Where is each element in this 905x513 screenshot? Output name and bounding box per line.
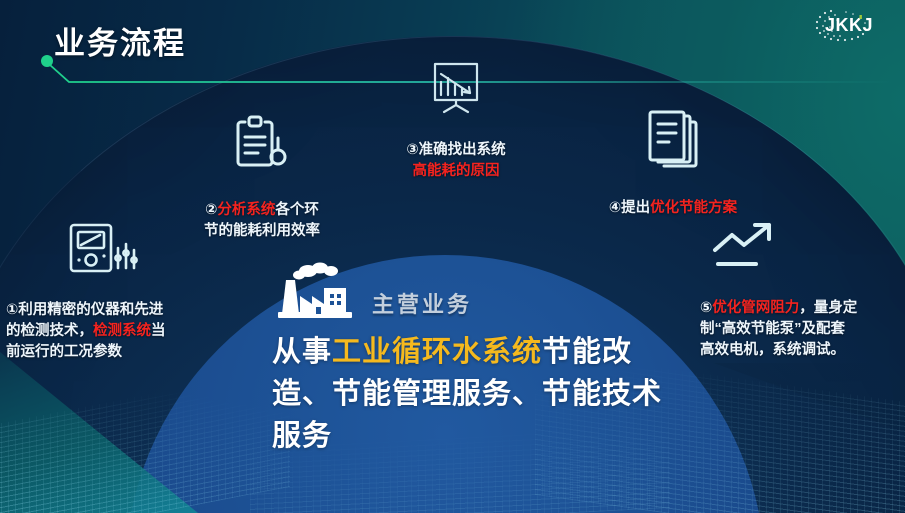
step-item-4: ④提出优化节能方案 — [588, 110, 758, 219]
clipboard-search-icon — [182, 112, 342, 179]
step-item-3: ③准确找出系统 高能耗的原因 — [372, 62, 540, 182]
main-business-label: 主营业务 — [372, 287, 472, 325]
step-2-text-before: ② — [205, 202, 217, 218]
main-business-text-before: 从事 — [272, 336, 332, 368]
slide-canvas: JKKJ 业务流程 — [0, 0, 905, 513]
step-item-2: ②分析系统各个环 节的能耗利用效率 — [182, 112, 342, 242]
step-5-text-highlight: 优化管网阻力 — [712, 300, 799, 316]
main-business-text-highlight: 工业循环水系统 — [332, 336, 542, 368]
chart-board-decline-icon — [372, 62, 540, 119]
factory-icon — [272, 262, 358, 325]
logo-wordmark: JKKJ — [825, 15, 873, 35]
step-5-text-before: ⑤ — [700, 300, 712, 316]
step-3-text-before: ③准确找出系统 — [406, 142, 505, 158]
step-item-5-text: ⑤优化管网阻力，量身定 制“高效节能泵”及配套 高效电机，系统调试。 — [700, 277, 900, 361]
page-title: 业务流程 — [54, 28, 186, 59]
step-item-2-text: ②分析系统各个环 节的能耗利用效率 — [182, 179, 342, 242]
step-item-4-text: ④提出优化节能方案 — [588, 177, 758, 219]
trending-up-icon — [710, 222, 900, 277]
step-4-text-highlight: 优化节能方案 — [650, 200, 737, 216]
main-business-block: 主营业务 从事工业循环水系统节能改造、节能管理服务、节能技术服务 — [272, 262, 672, 457]
step-2-text-highlight: 分析系统 — [217, 202, 275, 218]
logo-accent-mark — [860, 15, 862, 19]
company-logo: JKKJ — [809, 4, 887, 44]
documents-icon — [588, 110, 758, 177]
step-1-text-highlight: 检测系统 — [93, 323, 151, 339]
step-item-1: ①利用精密的仪器和先进 的检测技术，检测系统当 前运行的工况参数 — [6, 222, 221, 363]
step-3-text-highlight: 高能耗的原因 — [413, 163, 500, 179]
step-item-3-text: ③准确找出系统 高能耗的原因 — [372, 119, 540, 182]
main-business-description: 从事工业循环水系统节能改造、节能管理服务、节能技术服务 — [272, 331, 672, 457]
page-title-group: 业务流程 — [38, 28, 186, 59]
step-item-1-text: ①利用精密的仪器和先进 的检测技术，检测系统当 前运行的工况参数 — [6, 279, 221, 363]
step-4-text-before: ④提出 — [609, 200, 650, 216]
step-item-5: ⑤优化管网阻力，量身定 制“高效节能泵”及配套 高效电机，系统调试。 — [700, 222, 900, 361]
main-business-header: 主营业务 — [272, 262, 672, 325]
